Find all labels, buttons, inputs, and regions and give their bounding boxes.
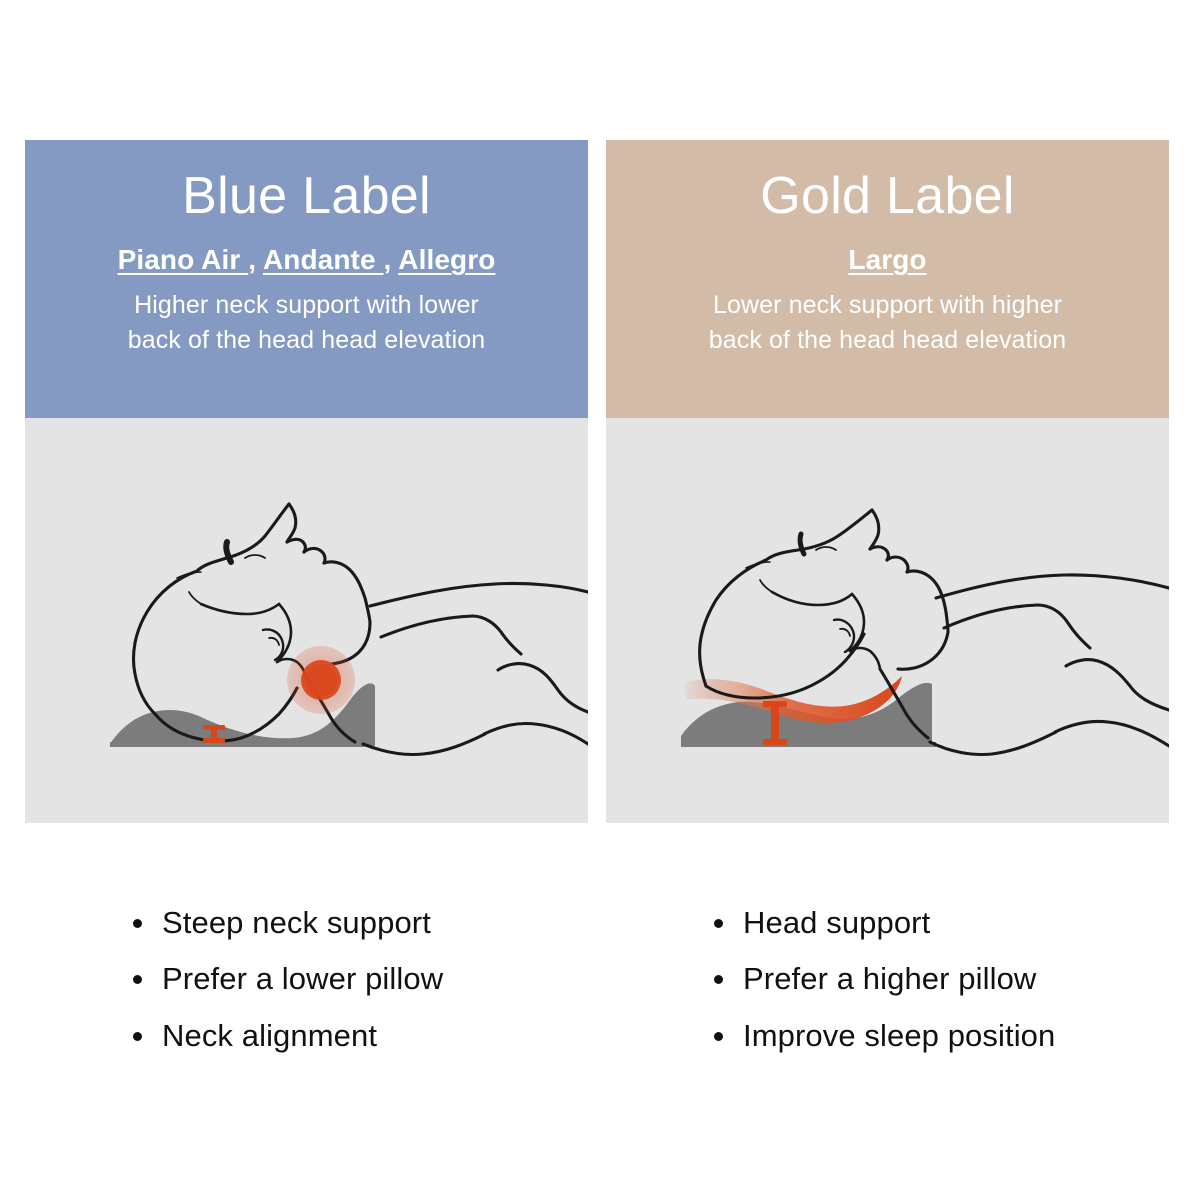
comparison-infographic: Blue Label Piano Air , Andante , Allegro… <box>0 0 1200 1200</box>
person-lying-on-low-pillow-icon <box>25 418 588 823</box>
card-gold-label: Gold Label Largo Lower neck support with… <box>606 140 1169 823</box>
model-name-andante: Andante <box>263 244 384 275</box>
bullets-blue-label: Steep neck support Prefer a lower pillow… <box>25 895 588 1064</box>
model-name-largo: Largo <box>848 244 926 275</box>
model-name-allegro: Allegro <box>398 244 495 275</box>
card-gold-models: Largo <box>620 244 1155 276</box>
card-gold-description-line-2: back of the head head elevation <box>620 323 1155 358</box>
person-lying-on-high-pillow-icon <box>606 418 1169 823</box>
card-row: Blue Label Piano Air , Andante , Allegro… <box>25 140 1175 823</box>
card-gold-title: Gold Label <box>620 170 1155 222</box>
card-gold-description-line-1: Lower neck support with higher <box>620 288 1155 323</box>
card-blue-illustration <box>25 418 588 823</box>
card-gold-description: Lower neck support with higher back of t… <box>620 288 1155 357</box>
card-blue-label: Blue Label Piano Air , Andante , Allegro… <box>25 140 588 823</box>
list-item: Steep neck support <box>129 895 588 951</box>
card-gold-illustration <box>606 418 1169 823</box>
card-blue-title: Blue Label <box>39 170 574 222</box>
card-blue-header: Blue Label Piano Air , Andante , Allegro… <box>25 140 588 418</box>
neck-pressure-highlight <box>287 646 355 714</box>
card-gold-header: Gold Label Largo Lower neck support with… <box>606 140 1169 418</box>
bullets-row: Steep neck support Prefer a lower pillow… <box>25 895 1175 1064</box>
list-item: Prefer a higher pillow <box>710 951 1169 1007</box>
card-blue-models: Piano Air , Andante , Allegro <box>39 244 574 276</box>
card-blue-description-line-2: back of the head head elevation <box>39 323 574 358</box>
model-separator-1: , <box>248 244 263 275</box>
list-item: Head support <box>710 895 1169 951</box>
card-blue-description-line-1: Higher neck support with lower <box>39 288 574 323</box>
list-item: Improve sleep position <box>710 1008 1169 1064</box>
model-separator-2: , <box>384 244 399 275</box>
model-name-piano-air: Piano Air <box>118 244 249 275</box>
card-blue-description: Higher neck support with lower back of t… <box>39 288 574 357</box>
list-item: Neck alignment <box>129 1008 588 1064</box>
bullets-gold-label: Head support Prefer a higher pillow Impr… <box>606 895 1169 1064</box>
list-item: Prefer a lower pillow <box>129 951 588 1007</box>
